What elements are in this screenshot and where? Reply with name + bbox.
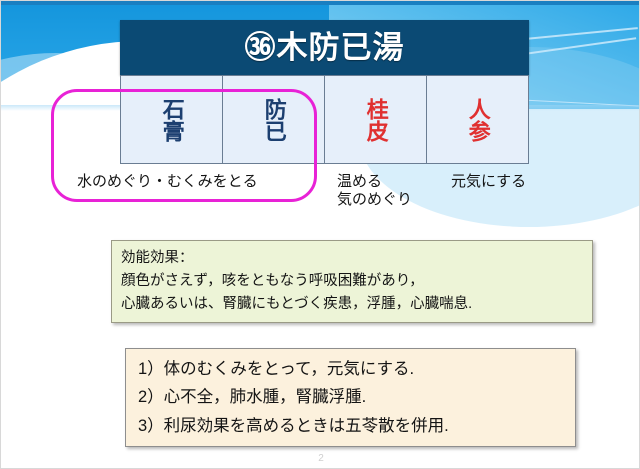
page-title: ㊱木防已湯 (245, 32, 405, 63)
herb-name: 桂皮 (364, 98, 386, 142)
caption-warming-effect: 温める 気のめぐり (337, 173, 412, 210)
note-line: 1）体のむくみをとって，元気にする. (138, 355, 575, 383)
herb-cell-ninjin[interactable]: 人参 (427, 75, 529, 164)
top-strip (1, 1, 639, 6)
title-bar: ㊱木防已湯 (120, 20, 529, 75)
note-line: 2）心不全，肺水腫，腎臓浮腫. (138, 383, 575, 411)
notes-box: 1）体のむくみをとって，元気にする. 2）心不全，肺水腫，腎臓浮腫. 3）利尿効… (125, 348, 576, 447)
slide: ㊱木防已湯 石膏 防已 桂皮 人参 水のめぐり・むくみをとる 温める 気のめぐり… (0, 0, 640, 469)
herb-cell-keihi[interactable]: 桂皮 (325, 75, 427, 164)
caption-water-effect: 水のめぐり・むくみをとる (77, 173, 258, 191)
efficacy-line: 心臓あるいは、腎臓にもとづく疾患，浮腫，心臓喘息. (121, 293, 592, 316)
caption-energy-effect: 元気にする (451, 173, 526, 191)
efficacy-line: 効能効果： (121, 247, 592, 270)
page-number: 2 (1, 453, 640, 464)
efficacy-line: 顔色がさえず，咳をともなう呼吸困難があり， (121, 270, 592, 293)
herb-name: 人参 (466, 98, 488, 142)
efficacy-box: 効能効果： 顔色がさえず，咳をともなう呼吸困難があり， 心臓あるいは、腎臓にもと… (111, 240, 593, 323)
note-line: 3）利尿効果を高めるときは五苓散を併用. (138, 412, 575, 440)
